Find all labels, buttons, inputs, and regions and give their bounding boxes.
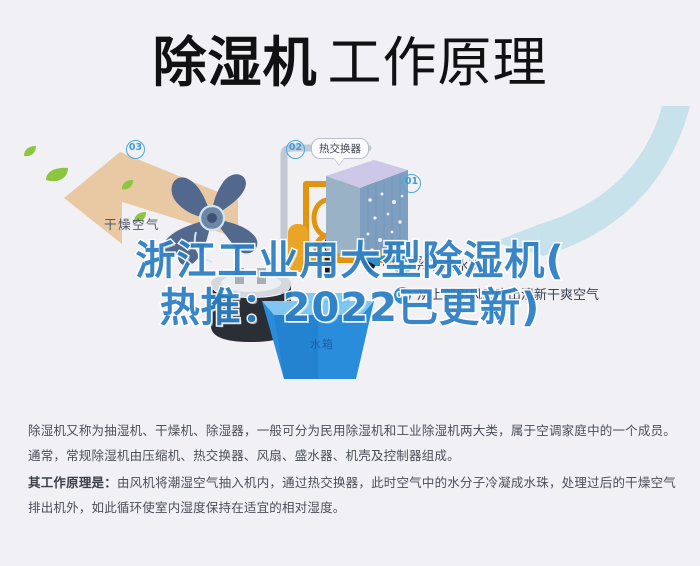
step-list: 02 冷凝成水珠 03 从上部出风口吹出清新干爽空气	[394, 258, 694, 316]
step-text-03: 从上部出风口吹出清新干爽空气	[417, 287, 599, 304]
callout-badge-01: 01	[402, 174, 421, 193]
description-paragraph-2: 其工作原理是：由风机将潮湿空气抽入机内，通过热交换器，此时空气中的水分子冷凝成水…	[28, 470, 676, 520]
leaf-icon	[22, 144, 38, 160]
description-block: 除湿机又称为抽湿机、干燥机、除湿器，一般可分为民用除湿机和工业除湿机两大类，属于…	[28, 418, 676, 522]
description-lead: 其工作原理是：	[28, 475, 117, 490]
page-title: 除湿机 工作原理	[0, 24, 700, 102]
leaf-icon	[44, 166, 70, 186]
callout-badge-02: 02	[286, 140, 305, 159]
water-tank-label: 水箱	[310, 336, 334, 352]
leaf-icon	[120, 178, 135, 193]
step-item: 02 冷凝成水珠	[394, 258, 694, 275]
step-item: 03 从上部出风口吹出清新干爽空气	[394, 287, 694, 304]
step-badge-03: 03	[394, 287, 411, 304]
step-badge-02: 02	[394, 258, 411, 275]
step-text-02: 冷凝成水珠	[417, 258, 482, 275]
callout-label-dry-air: 干燥空气	[104, 214, 160, 233]
title-light-part: 工作原理	[328, 33, 548, 93]
heat-exchanger-callout-bubble: 热交换器	[311, 138, 369, 159]
title-strong-part: 除湿机	[153, 33, 318, 93]
infographic-page: 除湿机 工作原理	[0, 0, 700, 566]
description-paragraph-1: 除湿机又称为抽湿机、干燥机、除湿器，一般可分为民用除湿机和工业除湿机两大类，属于…	[28, 418, 676, 468]
description-body: 由风机将潮湿空气抽入机内，通过热交换器，此时空气中的水分子冷凝成水珠，处理过后的…	[28, 475, 676, 515]
callout-badge-03: 03	[126, 140, 145, 159]
